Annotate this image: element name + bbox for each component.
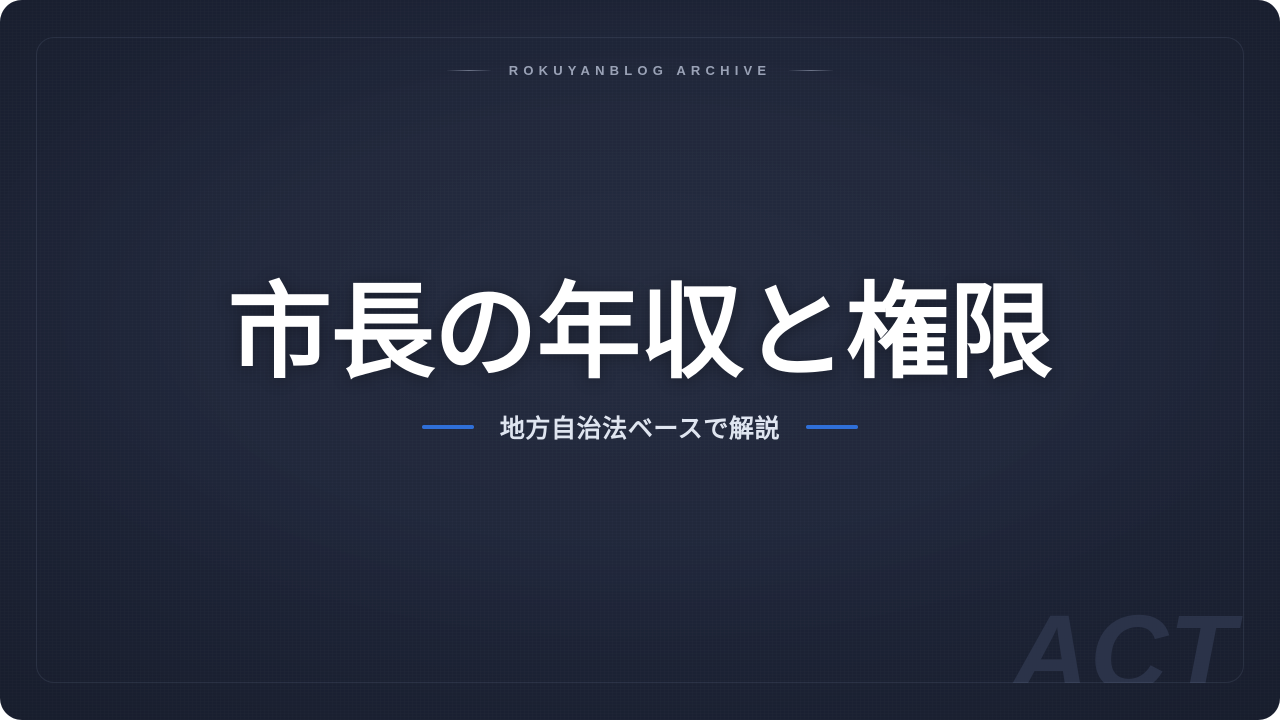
title-slide: ACT ROKUYANBLOG ARCHIVE 市長の年収と権限 地方自治法ベー… [0, 0, 1280, 720]
page-title: 市長の年収と権限 [228, 275, 1052, 391]
subtitle-row: 地方自治法ベースで解説 [422, 409, 858, 445]
accent-bar-right-icon [806, 425, 858, 429]
accent-bar-left-icon [422, 425, 474, 429]
title-block: 市長の年収と権限 地方自治法ベースで解説 [0, 0, 1280, 720]
page-subtitle: 地方自治法ベースで解説 [500, 409, 780, 445]
